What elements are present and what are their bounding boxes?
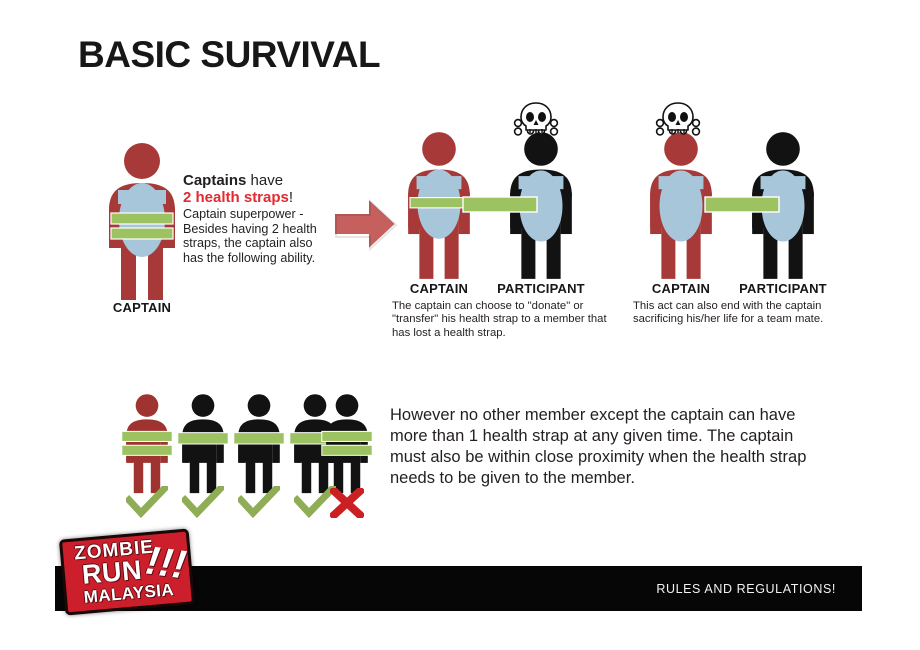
skull-crossbones-icon-donate bbox=[512, 100, 560, 142]
captain-label-left: CAPTAIN bbox=[96, 300, 188, 315]
lead-have: have bbox=[246, 172, 283, 189]
row-figure-2-member bbox=[174, 390, 232, 498]
transferred-health-strap-sacrifice bbox=[704, 196, 780, 214]
row-figure-3-member bbox=[230, 390, 288, 498]
cross-mark-icon-5 bbox=[330, 488, 364, 523]
health-strap-lower bbox=[111, 228, 173, 239]
infographic-page: BASIC SURVIVAL CAPTAIN Captains have 2 h… bbox=[0, 0, 920, 650]
captain-figure-left bbox=[96, 142, 188, 302]
transferred-health-strap-donate bbox=[462, 196, 538, 214]
page-title: BASIC SURVIVAL bbox=[78, 34, 380, 76]
lead-text-block: Captains have 2 health straps! Captain s… bbox=[183, 172, 333, 265]
check-mark-icon-2 bbox=[182, 486, 224, 523]
footer-right-text: RULES AND REGULATIONS! bbox=[656, 582, 836, 596]
health-strap-upper bbox=[111, 213, 173, 224]
lead-bang: ! bbox=[289, 189, 293, 206]
arrow-right-icon bbox=[332, 195, 398, 258]
check-mark-icon-1 bbox=[126, 486, 168, 523]
check-mark-icon-3 bbox=[238, 486, 280, 523]
captain-label-donate: CAPTAIN bbox=[396, 281, 482, 296]
lead-body: Captain superpower - Besides having 2 he… bbox=[183, 207, 333, 265]
health-strap-remaining bbox=[410, 198, 468, 208]
skull-crossbones-icon-sacrifice bbox=[654, 100, 702, 142]
zombie-run-malaysia-logo: ZOMBIE RUN MALAYSIA !!! bbox=[62, 534, 192, 610]
caption-donate: The captain can choose to "donate" or "t… bbox=[392, 300, 607, 340]
logo-exclamation-marks: !!! bbox=[144, 541, 189, 584]
rules-paragraph: However no other member except the capta… bbox=[390, 405, 825, 489]
participant-label-sacrifice: PARTICIPANT bbox=[734, 281, 832, 296]
lead-red-straps: 2 health straps bbox=[183, 189, 289, 206]
row-figure-5-member-invalid bbox=[318, 390, 376, 498]
caption-sacrifice: This act can also end with the captain s… bbox=[633, 300, 838, 327]
row-figure-1-captain bbox=[118, 390, 176, 498]
participant-label-donate: PARTICIPANT bbox=[492, 281, 590, 296]
captain-pictogram bbox=[96, 142, 188, 302]
captain-label-sacrifice: CAPTAIN bbox=[638, 281, 724, 296]
lead-bold-captains: Captains bbox=[183, 172, 246, 189]
